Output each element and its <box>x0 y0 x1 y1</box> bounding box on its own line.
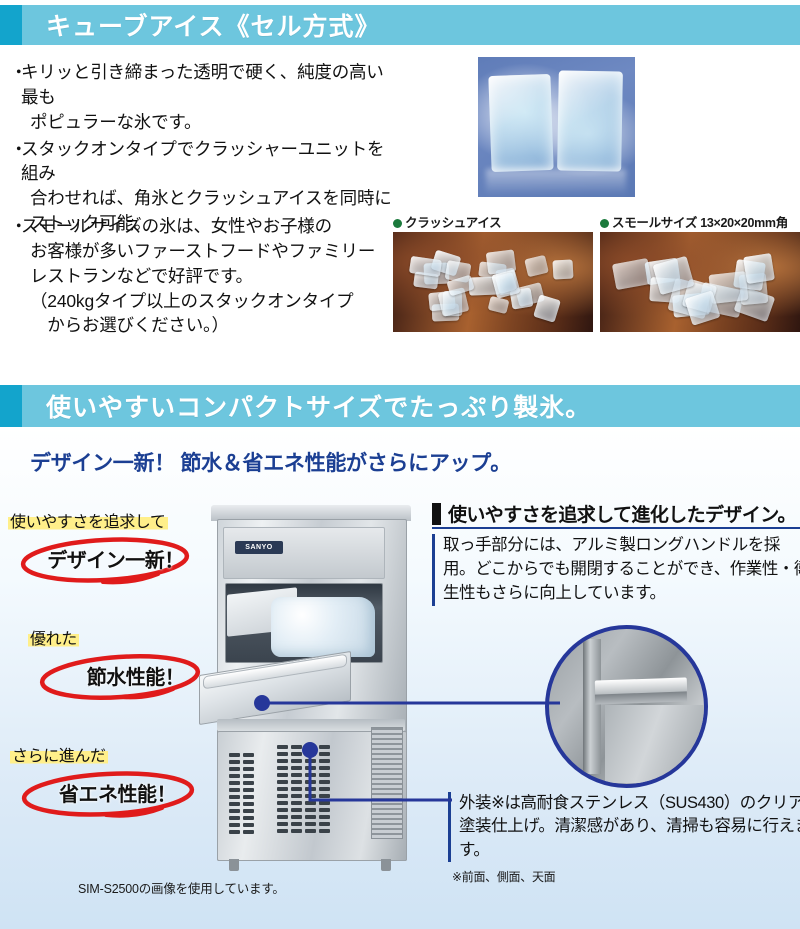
handle-lip-shadow <box>595 691 687 704</box>
cube-ice-bullet-list: ・ キリッと引き締まった透明で硬く、純度の高い最も ポピュラーな氷です。 ・ ス… <box>10 60 400 238</box>
photo-regular-size-ice <box>478 57 635 197</box>
ice-chunk-shape <box>612 258 653 291</box>
handle-door-face <box>605 705 705 783</box>
callout-design-renewal: 使いやすさを追求して デザイン一新！ <box>8 508 223 580</box>
design-heading-underline <box>432 527 800 529</box>
callout-circle: 省エネ性能！ <box>10 770 225 814</box>
section1-header-bar: キューブアイス《セル方式》 <box>0 5 800 45</box>
photo-handle-detail <box>545 625 708 788</box>
small-ice-bullet-list: ・ スモールサイズの氷は、女性やお子様の お客様が多いファーストフードやファミリ… <box>10 214 400 340</box>
heading-marker-icon <box>432 503 441 525</box>
callout-circled-text: デザイン一新！ <box>8 536 223 580</box>
callout-circled-text: 省エネ性能！ <box>10 770 225 814</box>
callout-lead-label: 使いやすさを追求して <box>8 514 168 531</box>
bullet-marker-icon: ・ <box>10 214 21 338</box>
green-bullet-icon <box>393 219 402 228</box>
section2-subheading: デザイン一新！ 節水＆省エネ性能がさらにアップ。 <box>30 447 511 477</box>
list-item: ・ スモールサイズの氷は、女性やお子様の お客様が多いファーストフードやファミリ… <box>10 214 400 338</box>
exterior-section-body: 外装※は高耐食ステンレス（SUS430）のクリア塗装仕上げ。清潔感があり、清掃も… <box>448 792 800 862</box>
design-section-heading: 使いやすさを追求して進化したデザイン。 <box>432 500 796 527</box>
section2-header-bar: 使いやすいコンパクトサイズでたっぷり製氷。 <box>0 385 800 427</box>
machine-brand-logo: SANYO <box>235 541 283 554</box>
list-item: ・ キリッと引き締まった透明で硬く、純度の高い最も ポピュラーな氷です。 <box>10 60 400 135</box>
caption-crush-ice: クラッシュアイス <box>393 216 501 232</box>
machine-image-caption: SIM-S2500の画像を使用しています。 <box>78 878 285 897</box>
design-section-body: 取っ手部分には、アルミ製ロングハンドルを採用。どこからでも開閉することができ、作… <box>432 534 800 606</box>
ice-cube-shape <box>557 70 623 171</box>
machine-side-vent <box>371 727 403 839</box>
caption-crush-ice-text: クラッシュアイス <box>405 216 501 232</box>
ice-reflection <box>486 169 626 195</box>
machine-vent-grille <box>277 745 330 833</box>
machine-vent-grille <box>229 753 254 834</box>
photo-small-size-ice <box>600 232 800 332</box>
caption-small-size-text: スモールサイズ 13×20×20mm角 <box>612 216 788 232</box>
machine-leg <box>381 859 391 871</box>
machine-leg <box>229 859 239 871</box>
section2-header-body: 使いやすいコンパクトサイズでたっぷり製氷。 <box>22 385 800 427</box>
bullet-text: キリッと引き締まった透明で硬く、純度の高い最も ポピュラーな氷です。 <box>21 60 400 135</box>
callout-lead-label: 優れた <box>28 631 79 648</box>
green-bullet-icon <box>600 219 609 228</box>
callout-energy-saving: さらに進んだ 省エネ性能！ <box>10 742 225 814</box>
bullet-marker-icon: ・ <box>10 60 21 135</box>
exterior-section-note: ※前面、側面、天面 <box>452 868 555 885</box>
ice-chunk-shape <box>743 253 775 284</box>
callout-lead-label: さらに進んだ <box>10 748 108 765</box>
ice-chunk-shape <box>524 255 549 277</box>
caption-small-size: スモールサイズ 13×20×20mm角 <box>600 216 788 232</box>
section1-title: キューブアイス《セル方式》 <box>22 7 381 43</box>
handle-edge <box>583 639 601 774</box>
section2-title: 使いやすいコンパクトサイズでたっぷり製氷。 <box>22 388 591 424</box>
ice-chunk-shape <box>552 259 573 279</box>
photo-ice-machine: SANYO <box>205 505 420 875</box>
bullet-text: スモールサイズの氷は、女性やお子様の お客様が多いファーストフードやファミリー … <box>21 214 400 338</box>
brochure-page: キューブアイス《セル方式》 ・ キリッと引き締まった透明で硬く、純度の高い最も … <box>0 0 800 929</box>
section2-header-cap <box>0 385 22 427</box>
section1-header-body: キューブアイス《セル方式》 <box>22 5 800 45</box>
design-heading-text: 使いやすさを追求して進化したデザイン。 <box>448 500 796 527</box>
callout-circle: デザイン一新！ <box>8 536 223 580</box>
section-cube-ice: キューブアイス《セル方式》 ・ キリッと引き締まった透明で硬く、純度の高い最も … <box>0 0 800 375</box>
photo-crush-ice <box>393 232 593 332</box>
machine-ice-pile <box>271 597 375 657</box>
ice-cube-shape <box>488 74 553 172</box>
section1-header-cap <box>0 5 22 45</box>
ice-chunk-shape <box>488 296 510 314</box>
